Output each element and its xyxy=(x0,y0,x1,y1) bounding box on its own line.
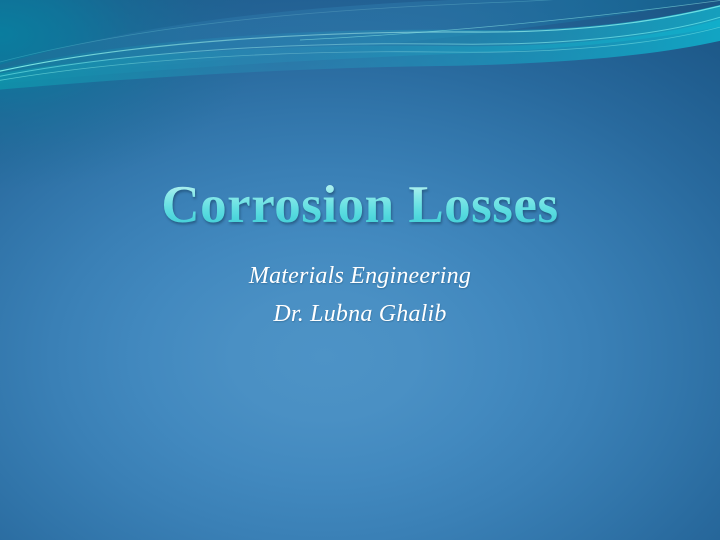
wave-ribbon-teal xyxy=(0,18,720,90)
slide-title-text: Corrosion Losses xyxy=(161,178,558,233)
wave-ribbon-dark xyxy=(0,0,720,80)
wave-ribbon-mid xyxy=(0,4,720,84)
wave-highlight-line-2 xyxy=(0,16,720,77)
slide-title: Corrosion Losses xyxy=(0,178,720,233)
wave-highlight-line-1 xyxy=(0,5,720,72)
wave-highlight-line-3 xyxy=(0,26,720,81)
wave-highlight-line-4 xyxy=(0,0,720,63)
title-slide: Corrosion Losses Materials Engineering D… xyxy=(0,0,720,540)
subtitle-line-author: Dr. Lubna Ghalib xyxy=(0,296,720,334)
slide-subtitle: Materials Engineering Dr. Lubna Ghalib xyxy=(0,258,720,334)
top-wave-ribbon-decoration xyxy=(0,0,720,110)
subtitle-line-department: Materials Engineering xyxy=(0,258,720,296)
corner-teal-tint xyxy=(0,0,320,190)
wave-highlight-line-5 xyxy=(300,0,720,40)
